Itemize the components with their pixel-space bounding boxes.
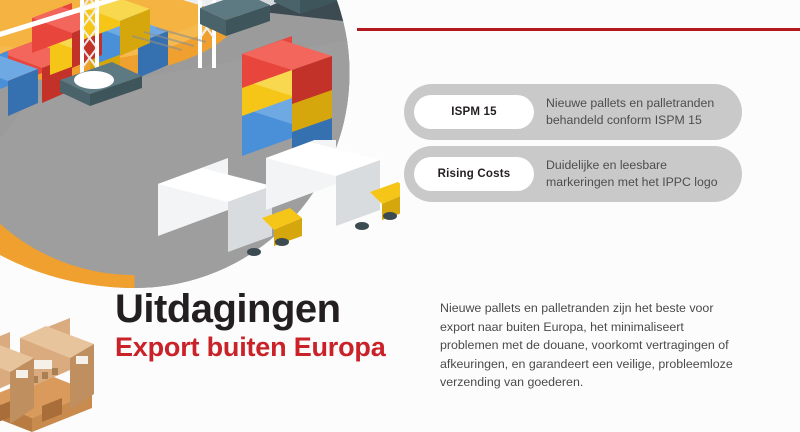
top-divider-rule bbox=[357, 28, 800, 31]
headline-block: Uitdagingen Export buiten Europa bbox=[115, 287, 386, 363]
info-pill-rising-costs[interactable]: Rising Costs Duidelijke en leesbare mark… bbox=[404, 146, 742, 202]
info-pill-tag: ISPM 15 bbox=[414, 95, 534, 129]
body-paragraph: Nieuwe pallets en palletranden zijn het … bbox=[440, 299, 740, 392]
page-subtitle: Export buiten Europa bbox=[115, 331, 386, 363]
yard-trucks-illustration bbox=[150, 140, 400, 270]
info-pill-text: Nieuwe pallets en palletranden behandeld… bbox=[546, 95, 742, 129]
slide-canvas: ISPM 15 Nieuwe pallets en palletranden b… bbox=[0, 0, 800, 432]
page-title: Uitdagingen bbox=[115, 287, 386, 331]
pallet-with-boxes-icon bbox=[0, 300, 94, 432]
info-pill-ispm15[interactable]: ISPM 15 Nieuwe pallets en palletranden b… bbox=[404, 84, 742, 140]
info-pill-tag: Rising Costs bbox=[414, 157, 534, 191]
info-pill-text: Duidelijke en leesbare markeringen met h… bbox=[546, 157, 742, 191]
